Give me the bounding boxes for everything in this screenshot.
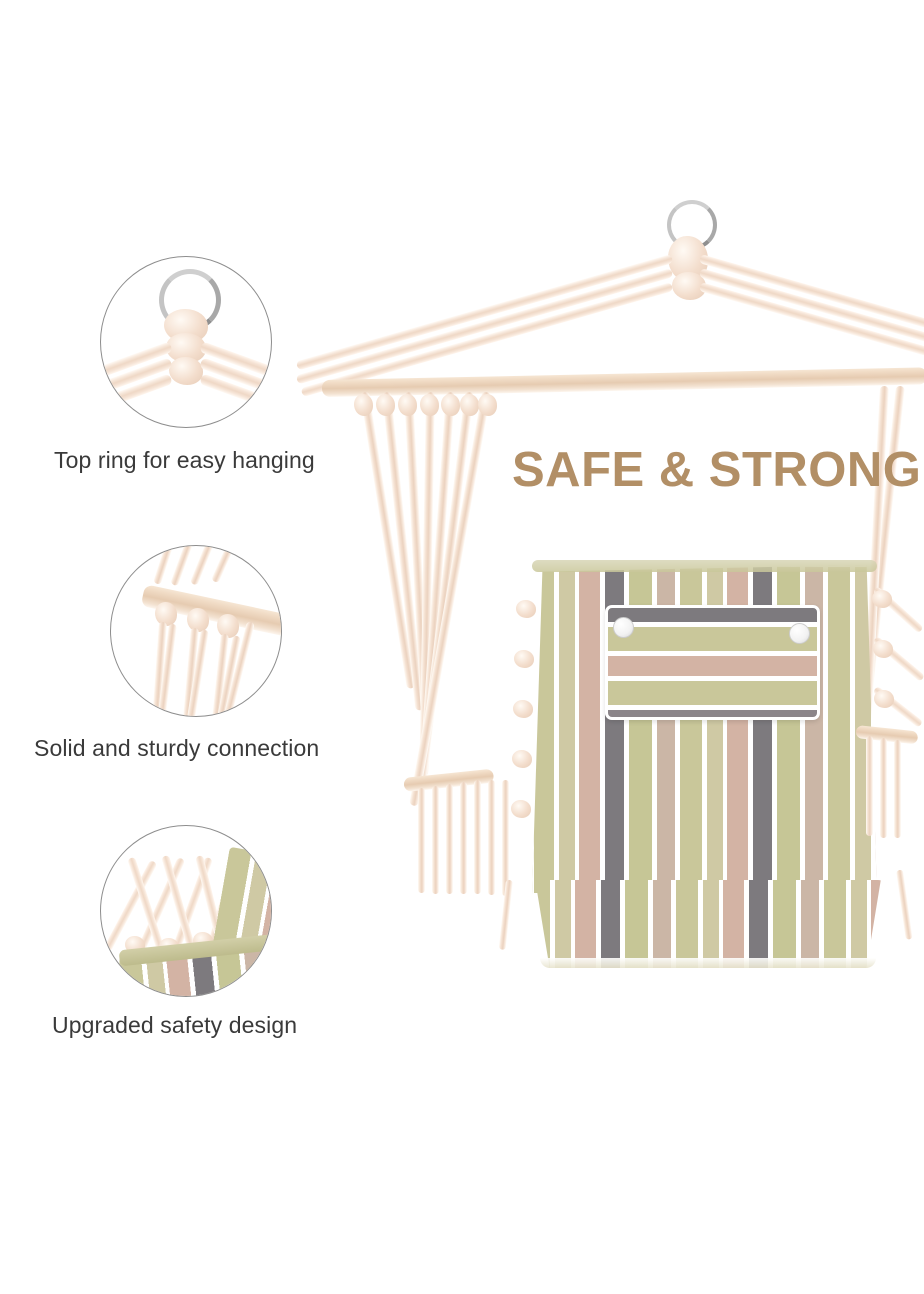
- product-illustration: [300, 180, 924, 1000]
- edge-knot-l4: [512, 750, 532, 768]
- rope-left-1: [296, 254, 673, 370]
- bar-knot-1: [354, 394, 373, 416]
- bar-knot-5: [441, 394, 460, 416]
- product-infographic: SAFE & STRONG Top ring for easy hanging: [0, 0, 924, 1294]
- detail-bar-knot-2: [187, 608, 209, 632]
- armrest-left-rope-5: [474, 780, 481, 894]
- edge-knot-l2: [514, 650, 534, 668]
- edge-knot-r2: [873, 640, 893, 658]
- armrest-left-rope-7: [502, 780, 509, 896]
- edge-knot-l3: [513, 700, 533, 718]
- armrest-right-rope-1: [866, 736, 873, 836]
- edge-knot-l1: [516, 600, 536, 618]
- feature-caption-connection: Solid and sturdy connection: [34, 735, 319, 762]
- seat-cushion: [528, 880, 888, 968]
- seat-net-rope-1: [499, 880, 513, 950]
- seat-net-rope-2: [896, 870, 913, 940]
- feature-caption-safety: Upgraded safety design: [52, 1012, 297, 1039]
- bar-knot-2: [376, 394, 395, 416]
- feature-circle-connection: [110, 545, 282, 717]
- armrest-left-rope-1: [418, 788, 425, 893]
- circle-3-content: [101, 826, 271, 996]
- bar-knot-4: [420, 394, 439, 416]
- seat-front-edge: [540, 958, 876, 968]
- headline-text: SAFE & STRONG: [512, 442, 921, 498]
- armrest-right-rope-2: [880, 738, 887, 838]
- detail-knot-3: [169, 357, 203, 385]
- detail-rope-top-4: [211, 545, 239, 583]
- feature-caption-top-ring: Top ring for easy hanging: [54, 447, 315, 474]
- circle-1-content: [101, 257, 271, 427]
- feature-circle-safety: [100, 825, 272, 997]
- bar-knot-6: [460, 394, 479, 416]
- headrest-pillow: [605, 605, 820, 720]
- pillow-button-left: [613, 617, 634, 638]
- edge-knot-r3: [874, 690, 894, 708]
- detail-bar-knot-1: [155, 602, 177, 626]
- armrest-left-rope-2: [432, 786, 439, 894]
- bar-knot-3: [398, 394, 417, 416]
- pillow-button-right: [789, 623, 810, 644]
- rope-left-2: [296, 268, 673, 384]
- backrest-top-edge: [532, 560, 877, 572]
- armrest-right-rope-3: [894, 740, 901, 838]
- edge-knot-r1: [872, 590, 892, 608]
- armrest-left-rope-6: [488, 780, 495, 895]
- armrest-left-rope-4: [460, 782, 467, 894]
- bar-knot-7: [478, 394, 497, 416]
- edge-knot-l5: [511, 800, 531, 818]
- detail-bar-knot-3: [217, 614, 239, 638]
- circle-2-content: [111, 546, 281, 716]
- armrest-left-rope-3: [446, 784, 453, 894]
- feature-circle-top-ring: [100, 256, 272, 428]
